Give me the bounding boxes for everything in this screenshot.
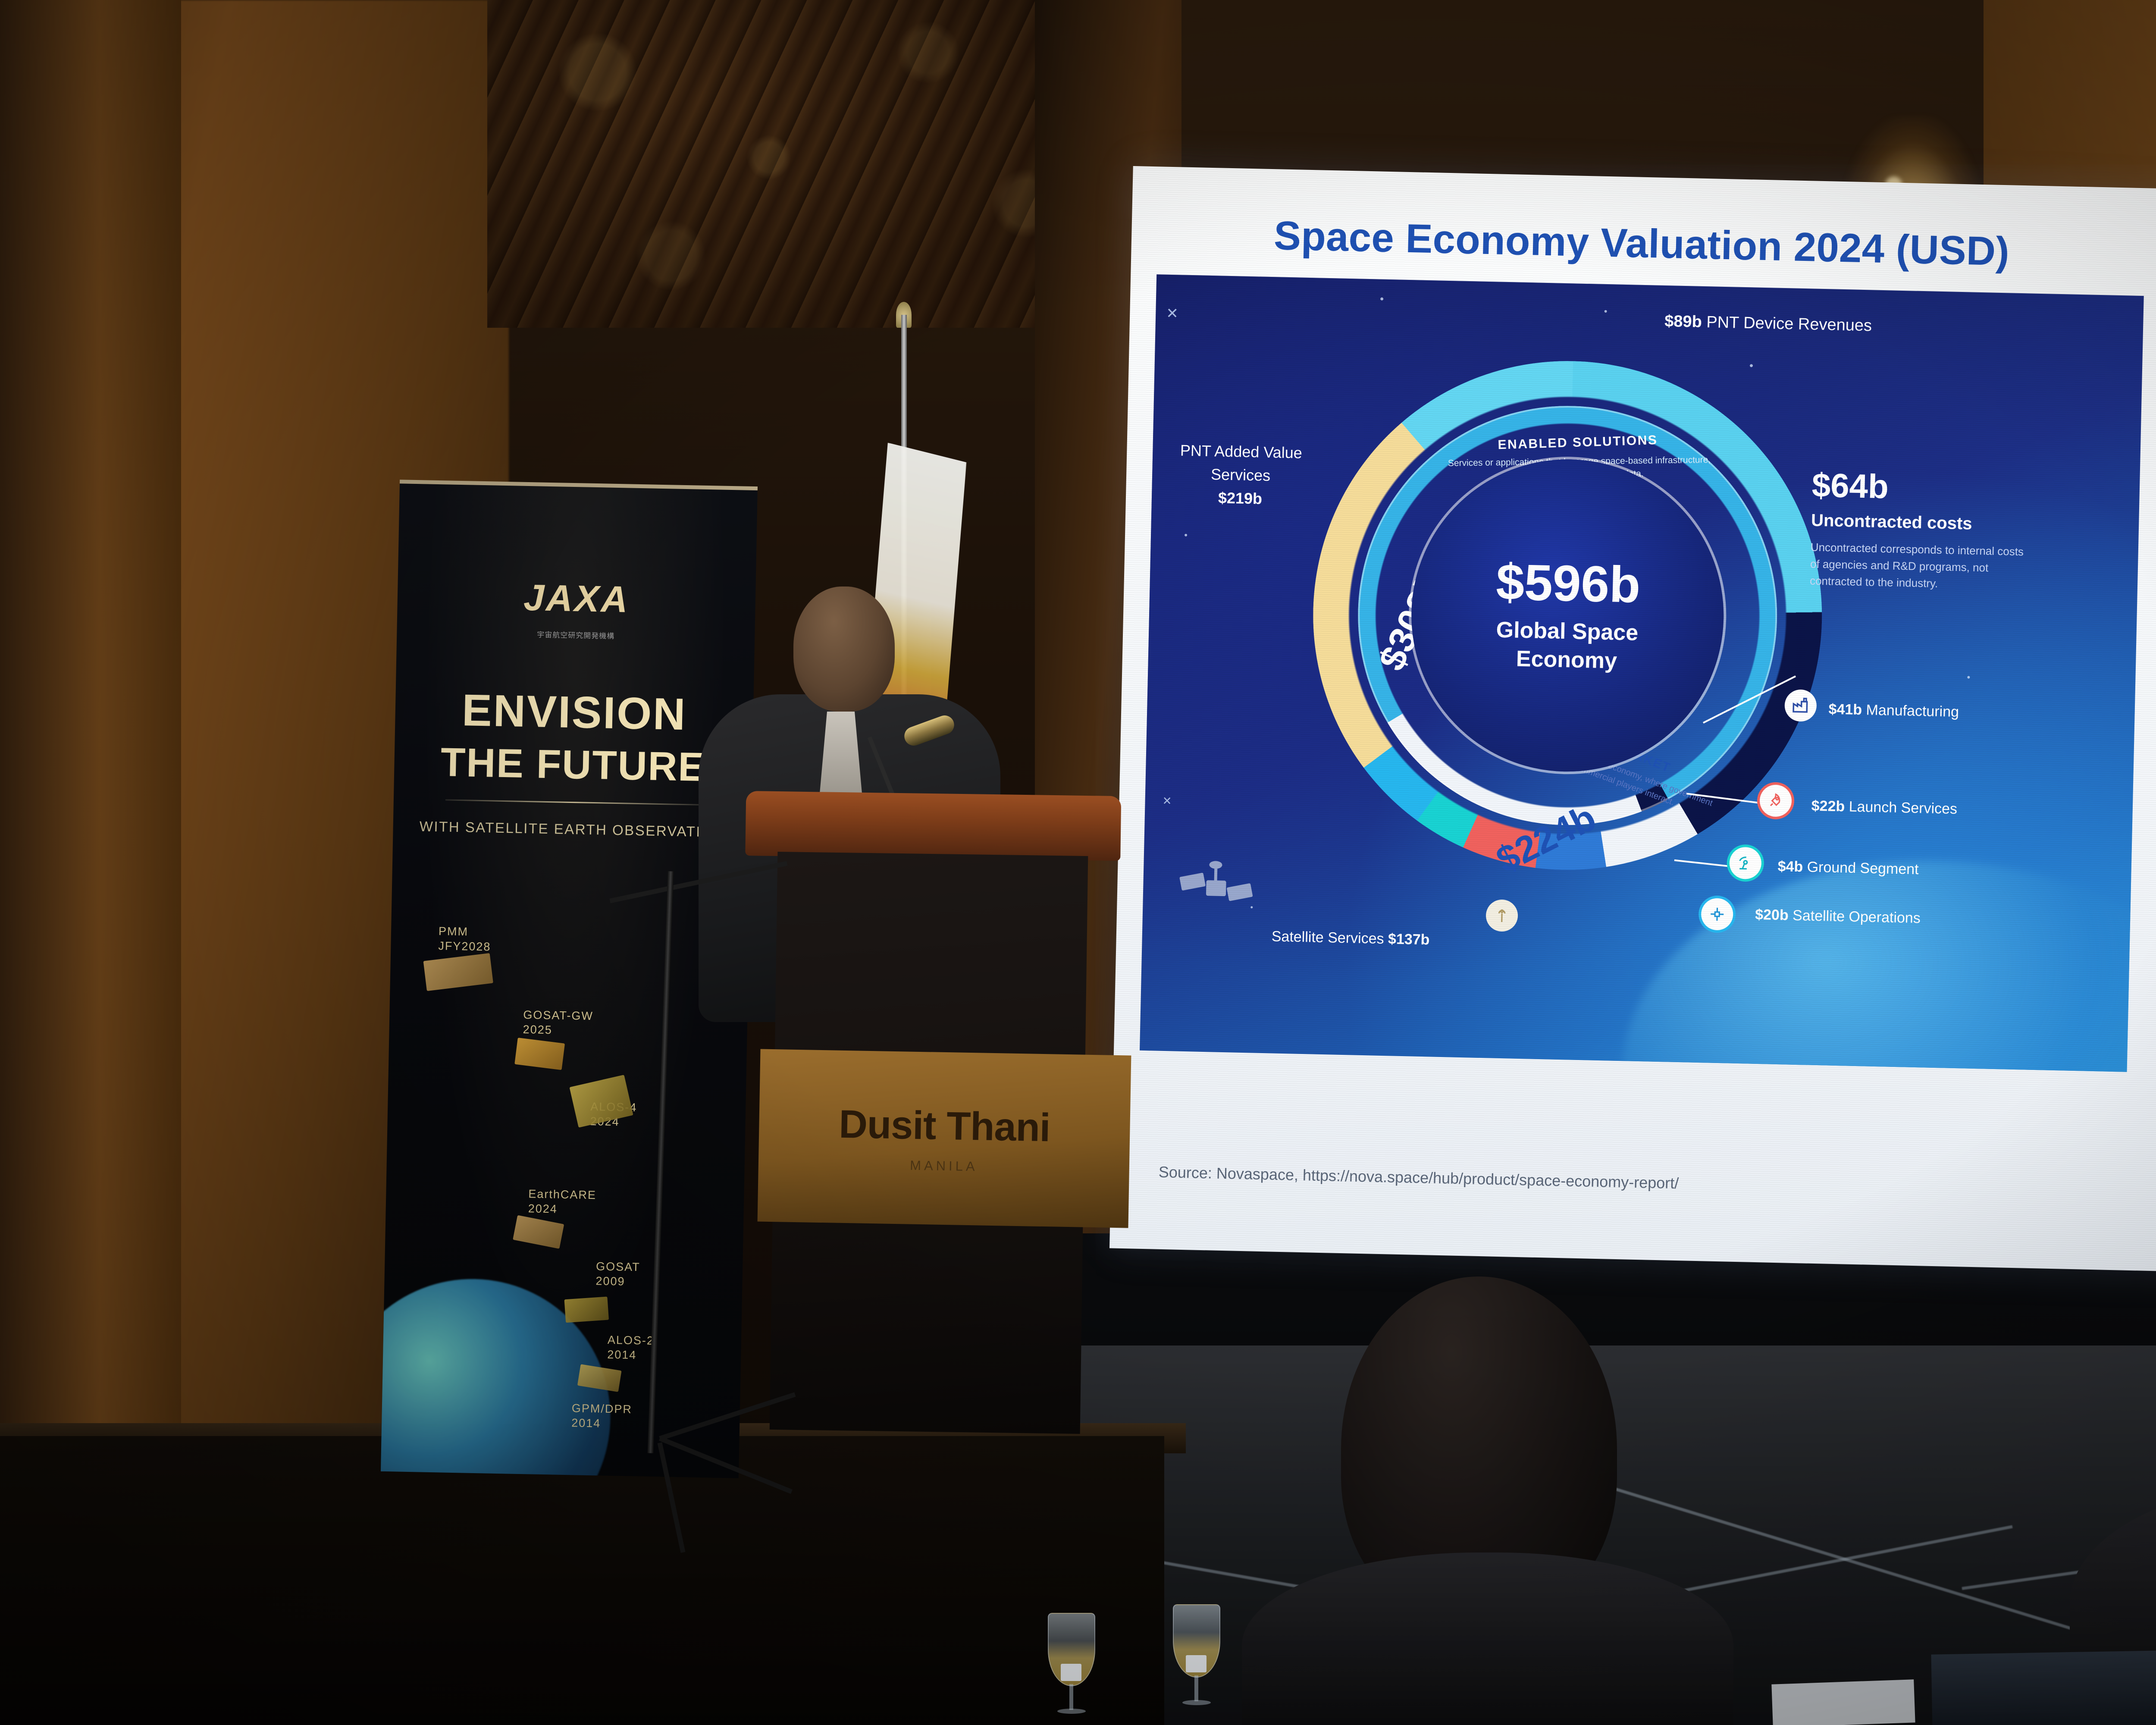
- projection-screen: Space Economy Valuation 2024 (USD) ✕ ✕: [1109, 166, 2156, 1279]
- left-wall-pillar: [0, 0, 181, 1466]
- glass-label: [1186, 1655, 1206, 1672]
- callout-launch-services: $22b Launch Services: [1811, 798, 1957, 818]
- ground-station-icon: [1729, 847, 1762, 880]
- infographic-panel: ✕ ✕ $: [1140, 274, 2144, 1072]
- satellite-icon: [1172, 857, 1264, 924]
- glass-base: [1182, 1700, 1211, 1705]
- callout-satellite-operations: $20b Satellite Operations: [1755, 906, 1921, 927]
- slide-surface: Space Economy Valuation 2024 (USD) ✕ ✕: [1109, 166, 2156, 1279]
- callout-satellite-services: Satellite Services $137b: [1271, 928, 1429, 948]
- glass-stem: [1069, 1684, 1073, 1710]
- carved-wood-panel: [487, 0, 1100, 328]
- pnt-added-value-amount: $219b: [1218, 489, 1263, 507]
- banner-mission-label: EarthCARE2024: [528, 1187, 596, 1217]
- star-cross-icon: ✕: [1162, 794, 1172, 808]
- glass-base: [1057, 1709, 1086, 1714]
- banner-satellite-icon: [564, 1297, 609, 1323]
- banner-mission-label: ALOS-22014: [607, 1333, 654, 1363]
- banner-mission-label: GOSAT-GW2025: [523, 1008, 593, 1038]
- antenna-icon: [1485, 899, 1518, 932]
- callout-manufacturing: $41b Manufacturing: [1828, 701, 1959, 721]
- banner-mission-label: GPM/DPR2014: [571, 1401, 632, 1431]
- total-label-line2: Economy: [1516, 646, 1617, 674]
- total-label-line1: Global Space: [1496, 617, 1639, 646]
- uncontracted-title: Uncontracted costs: [1811, 511, 2027, 535]
- uncontracted-description: Uncontracted corresponds to internal cos…: [1810, 539, 2026, 594]
- earth-horizon-glow: [1617, 854, 2143, 1072]
- table-paper: [1771, 1679, 1915, 1725]
- callout-pnt-added-value: PNT Added Value Services $219b: [1160, 439, 1321, 512]
- venue-name: Dusit Thani: [839, 1101, 1051, 1151]
- uncontracted-value: $64b: [1811, 465, 2028, 509]
- banner-mission-label: PMMJFY2028: [438, 924, 491, 954]
- callout-pnt-device: $89b PNT Device Revenues: [1664, 312, 1872, 335]
- total-value: $596b: [1495, 557, 1641, 611]
- audience-laptop: [1931, 1649, 2156, 1725]
- water-glass: [1173, 1604, 1220, 1712]
- water-glass: [1048, 1613, 1095, 1721]
- banner-mission-label: GOSAT2009: [595, 1259, 640, 1289]
- audience-shoulders: [1242, 1552, 1733, 1725]
- donut-chart: $308b $224b ENABLED SOLUTIONS Services o…: [1308, 355, 1827, 875]
- glass-label: [1061, 1664, 1081, 1681]
- stage-front: [0, 1436, 1164, 1725]
- conference-photo-scene: Space Economy Valuation 2024 (USD) ✕ ✕: [0, 0, 2156, 1725]
- callout-ground-segment: $4b Ground Segment: [1777, 858, 1919, 878]
- podium-top: [745, 791, 1121, 861]
- speaker-head: [793, 586, 895, 712]
- callout-uncontracted: $64b Uncontracted costs Uncontracted cor…: [1810, 465, 2028, 594]
- pnt-added-value-title: PNT Added Value Services: [1180, 442, 1303, 485]
- slide-source-line: Source: Novaspace, https://nova.space/hu…: [1158, 1163, 1679, 1192]
- venue-city: MANILA: [910, 1157, 978, 1174]
- star-cross-icon: ✕: [1166, 305, 1178, 323]
- slide-title: Space Economy Valuation 2024 (USD): [1273, 212, 2010, 275]
- glass-stem: [1194, 1675, 1198, 1701]
- podium-plaque: Dusit Thani MANILA: [758, 1049, 1131, 1228]
